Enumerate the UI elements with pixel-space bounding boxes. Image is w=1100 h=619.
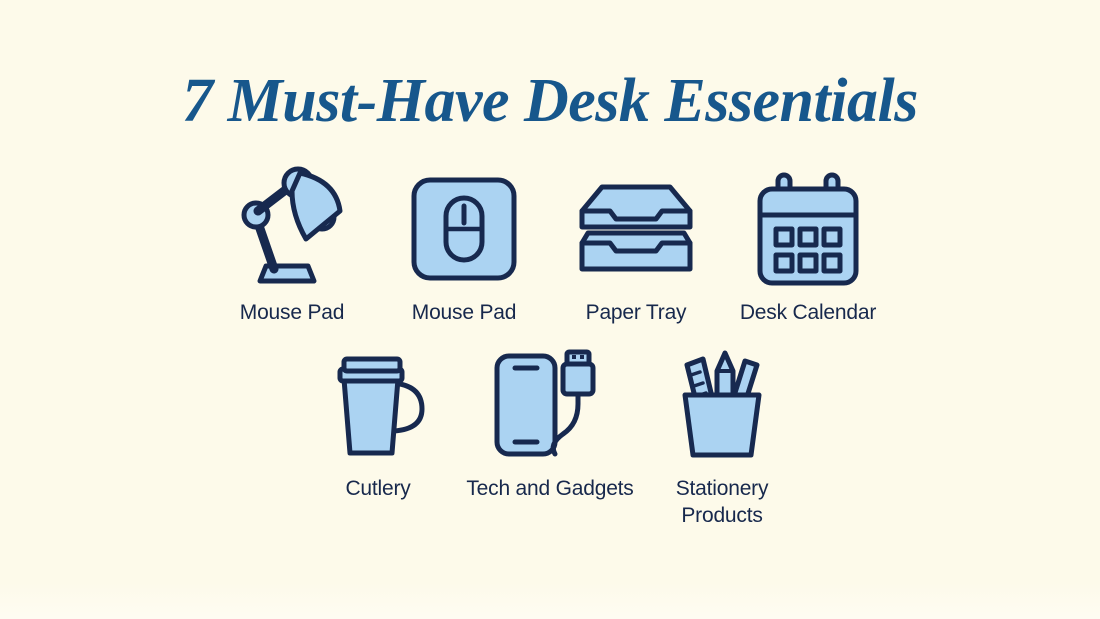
essential-label-7: Stationery Products xyxy=(652,476,792,529)
phone-cable-icon xyxy=(485,344,615,466)
essential-label-1: Mouse Pad xyxy=(240,300,344,326)
paper-tray-icon xyxy=(571,168,701,290)
essentials-grid: Mouse Pad Mouse Pad xyxy=(0,168,1100,529)
travel-mug-icon xyxy=(313,344,443,466)
essential-item-1[interactable]: Mouse Pad xyxy=(206,168,378,326)
essential-label-4: Desk Calendar xyxy=(740,300,876,326)
page-title: 7 Must-Have Desk Essentials xyxy=(0,66,1100,137)
essential-item-2[interactable]: Mouse Pad xyxy=(378,168,550,326)
essential-item-5[interactable]: Cutlery xyxy=(292,344,464,502)
slide-canvas: 7 Must-Have Desk Essentials xyxy=(0,0,1100,619)
mouse-pad-icon xyxy=(399,168,529,290)
essentials-row-1: Mouse Pad Mouse Pad xyxy=(0,168,1100,326)
essential-label-2: Mouse Pad xyxy=(412,300,516,326)
essential-label-5: Cutlery xyxy=(345,476,410,502)
essential-label-6: Tech and Gadgets xyxy=(466,476,633,502)
essential-label-3: Paper Tray xyxy=(586,300,687,326)
essential-item-6[interactable]: Tech and Gadgets xyxy=(464,344,636,502)
pen-holder-icon xyxy=(657,344,787,466)
essential-item-7[interactable]: Stationery Products xyxy=(636,344,808,529)
desk-lamp-icon xyxy=(227,168,357,290)
essential-item-3[interactable]: Paper Tray xyxy=(550,168,722,326)
desk-calendar-icon xyxy=(743,168,873,290)
essential-item-4[interactable]: Desk Calendar xyxy=(722,168,894,326)
essentials-row-2: Cutlery xyxy=(0,344,1100,529)
